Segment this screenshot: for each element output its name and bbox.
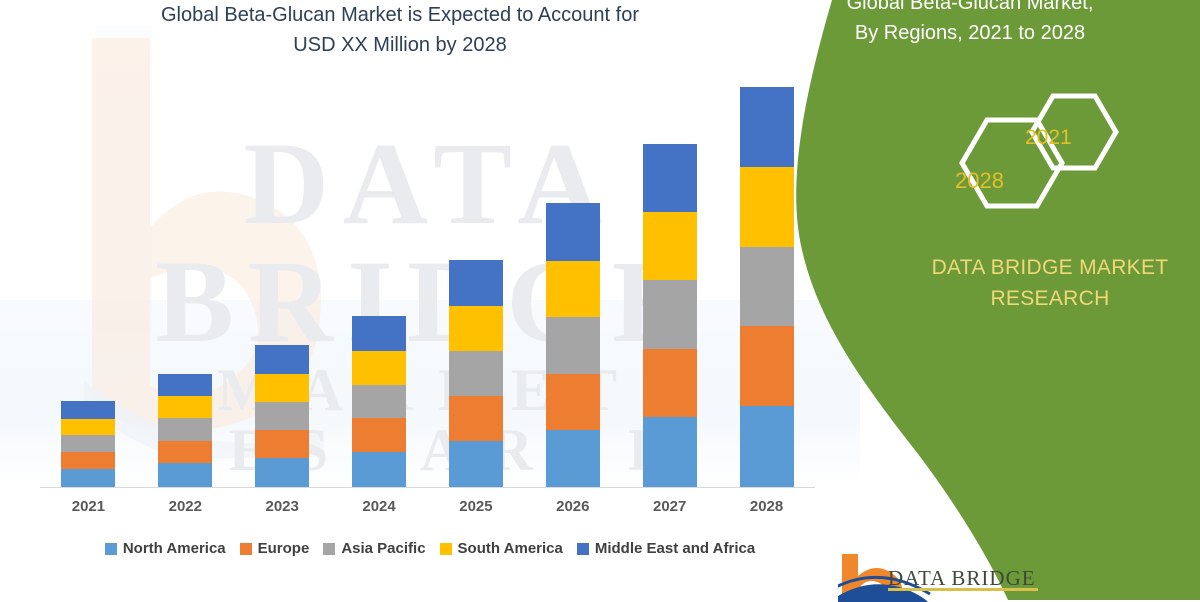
bar-slot	[621, 60, 718, 487]
bar-segment[interactable]	[158, 418, 212, 440]
chart-title: Global Beta-Glucan Market is Expected to…	[90, 0, 710, 60]
stacked-bar[interactable]	[158, 374, 212, 487]
bar-segment[interactable]	[449, 351, 503, 396]
stacked-bar[interactable]	[546, 203, 600, 487]
chart-title-line-1: Global Beta-Glucan Market is Expected to…	[90, 0, 710, 30]
legend-swatch-icon	[240, 543, 252, 555]
legend-label: Asia Pacific	[341, 540, 425, 557]
chart-title-line-2: USD XX Million by 2028	[90, 30, 710, 60]
legend-item[interactable]: Middle East and Africa	[577, 540, 755, 557]
bar-segment[interactable]	[546, 261, 600, 317]
bar-segment[interactable]	[255, 374, 309, 402]
legend-swatch-icon	[577, 543, 589, 555]
bar-segment[interactable]	[158, 441, 212, 463]
bar-segment[interactable]	[61, 452, 115, 469]
bar-slot	[40, 60, 137, 487]
bar-segment[interactable]	[255, 345, 309, 373]
green-side-panel	[740, 0, 1200, 600]
bar-segment[interactable]	[449, 306, 503, 351]
bar-segment[interactable]	[643, 349, 697, 418]
stacked-bar[interactable]	[449, 260, 503, 487]
stacked-bar[interactable]	[61, 401, 115, 487]
x-axis-tick-label: 2021	[40, 498, 137, 515]
legend-item[interactable]: North America	[105, 540, 226, 557]
x-axis-tick-label: 2022	[137, 498, 234, 515]
bar-segment[interactable]	[255, 430, 309, 458]
stacked-bar[interactable]	[255, 345, 309, 487]
legend-label: Middle East and Africa	[595, 540, 755, 557]
stacked-bar[interactable]	[643, 144, 697, 487]
dbmr-footer-logo-text: DATA BRIDGE	[888, 566, 1036, 591]
bar-segment[interactable]	[643, 280, 697, 349]
x-axis-tick-label: 2024	[331, 498, 428, 515]
bar-group	[40, 60, 815, 487]
legend-item[interactable]: South America	[440, 540, 563, 557]
plot-area	[40, 60, 820, 488]
bar-segment[interactable]	[255, 402, 309, 430]
bar-segment[interactable]	[643, 212, 697, 281]
bar-segment[interactable]	[546, 317, 600, 373]
bar-segment[interactable]	[643, 417, 697, 487]
stacked-bar[interactable]	[352, 316, 406, 487]
legend-item[interactable]: Europe	[240, 540, 310, 557]
legend-label: Europe	[258, 540, 310, 557]
bar-segment[interactable]	[352, 385, 406, 419]
legend-label: South America	[458, 540, 563, 557]
chart-legend: North AmericaEuropeAsia PacificSouth Ame…	[40, 540, 820, 557]
infographic-canvas: DATA BRIDGE MARKET RESEARCH Global Beta-…	[0, 0, 1200, 600]
legend-swatch-icon	[323, 543, 335, 555]
legend-item[interactable]: Asia Pacific	[323, 540, 425, 557]
x-axis-tick-label: 2023	[234, 498, 331, 515]
bar-slot	[331, 60, 428, 487]
bar-segment[interactable]	[546, 430, 600, 487]
chart-panel: DATA BRIDGE MARKET RESEARCH Global Beta-…	[0, 0, 860, 600]
bar-segment[interactable]	[255, 458, 309, 487]
bar-segment[interactable]	[449, 441, 503, 487]
bar-segment[interactable]	[643, 144, 697, 211]
x-axis-tick-label: 2027	[621, 498, 718, 515]
bar-segment[interactable]	[449, 260, 503, 306]
legend-swatch-icon	[440, 543, 452, 555]
bar-segment[interactable]	[449, 396, 503, 441]
bar-slot	[137, 60, 234, 487]
bar-segment[interactable]	[352, 351, 406, 385]
bar-segment[interactable]	[61, 435, 115, 452]
bar-segment[interactable]	[158, 374, 212, 396]
bar-slot	[428, 60, 525, 487]
bar-segment[interactable]	[61, 401, 115, 419]
bar-segment[interactable]	[546, 374, 600, 430]
x-axis-tick-label: 2026	[524, 498, 621, 515]
bar-segment[interactable]	[546, 203, 600, 261]
bar-segment[interactable]	[352, 452, 406, 487]
x-axis-line	[40, 487, 815, 488]
bar-segment[interactable]	[352, 316, 406, 351]
bar-segment[interactable]	[158, 463, 212, 487]
legend-label: North America	[123, 540, 226, 557]
bar-slot	[234, 60, 331, 487]
bar-segment[interactable]	[61, 469, 115, 487]
legend-swatch-icon	[105, 543, 117, 555]
bar-slot	[524, 60, 621, 487]
x-axis-labels: 20212022202320242025202620272028	[40, 498, 815, 515]
bar-segment[interactable]	[61, 419, 115, 436]
bar-segment[interactable]	[158, 396, 212, 418]
bar-segment[interactable]	[352, 418, 406, 452]
x-axis-tick-label: 2025	[428, 498, 525, 515]
